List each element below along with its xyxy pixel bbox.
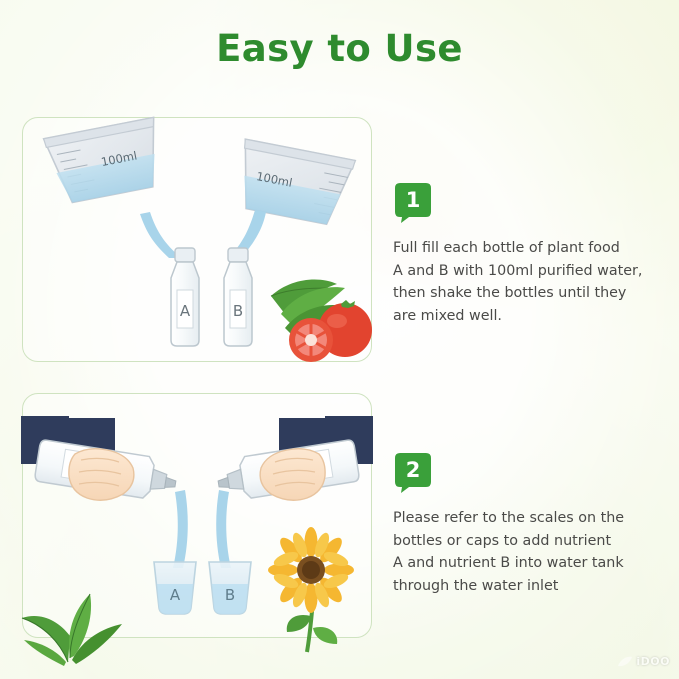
step-1: 1 Full fill each bottle of plant food A … bbox=[393, 182, 665, 327]
step-1-badge: 1 bbox=[393, 182, 437, 223]
pour-stream-left-2 bbox=[173, 490, 188, 568]
pour-stream-right-2 bbox=[216, 490, 231, 568]
step-2-number: 2 bbox=[393, 452, 433, 488]
step-1-illustration-panel: 100ml 100ml bbox=[22, 117, 372, 362]
bottle-b: B bbox=[224, 248, 252, 346]
watermark-text: iDOO bbox=[636, 655, 670, 668]
bottle-a: A bbox=[171, 248, 199, 346]
cup-b: B bbox=[209, 562, 251, 614]
produce-sunflower bbox=[268, 527, 354, 652]
cup-b-label: B bbox=[225, 586, 235, 604]
illustration-fill-bottles: 100ml 100ml bbox=[23, 118, 371, 361]
cup-a-label: A bbox=[170, 586, 181, 604]
step-2-text: Please refer to the scales on the bottle… bbox=[393, 507, 665, 597]
product-infographic: Easy to Use bbox=[0, 0, 679, 679]
step-2-badge: 2 bbox=[393, 452, 437, 493]
step-2: 2 Please refer to the scales on the bott… bbox=[393, 452, 665, 597]
step-1-text: Full fill each bottle of plant food A an… bbox=[393, 237, 665, 327]
leaf-icon bbox=[617, 656, 633, 668]
produce-basil-bottom-left bbox=[14, 566, 124, 670]
page-title: Easy to Use bbox=[0, 27, 679, 70]
cup-a: A bbox=[154, 562, 196, 614]
bottle-a-label: A bbox=[180, 302, 191, 320]
produce-tomato-basil bbox=[271, 280, 372, 362]
bottle-b-label: B bbox=[233, 302, 243, 320]
step-1-number: 1 bbox=[393, 182, 433, 218]
hand-left-with-bottle-a: A bbox=[21, 416, 179, 503]
hand-right-with-bottle-b: B bbox=[215, 416, 373, 503]
beaker-right: 100ml bbox=[232, 139, 355, 227]
beaker-left: 100ml bbox=[44, 117, 167, 205]
brand-watermark: iDOO bbox=[617, 655, 670, 668]
